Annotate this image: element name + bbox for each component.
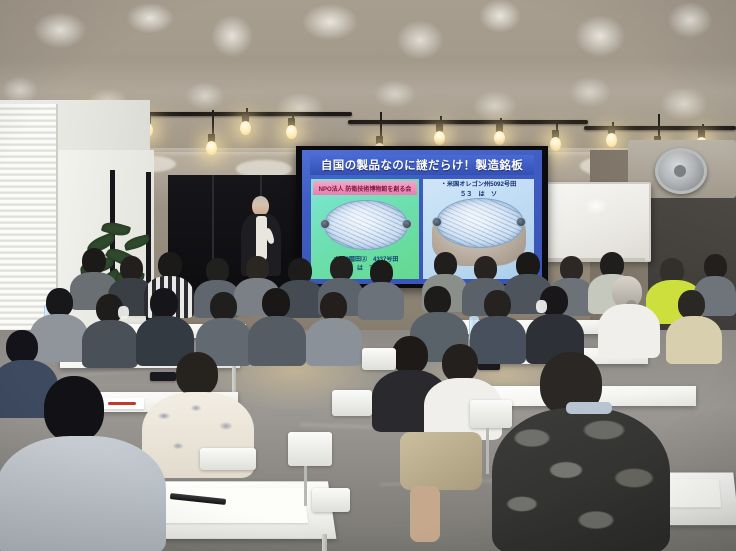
- chair-front-left: [288, 432, 332, 466]
- speaker-shirt: [256, 216, 267, 260]
- photo-scene: 自国の製品なのに謎だらけ！製造銘板 NPO法人 防衛技術博物館を創る会 ・米国オ…: [0, 0, 736, 551]
- ventilation-fan-icon: [655, 148, 707, 194]
- nameplate-left-hole-a: [320, 219, 330, 229]
- nameplate-right-hole-a: [432, 217, 442, 227]
- chair-row2-left: [332, 390, 372, 416]
- slide-left-caption-top: NPO法人 防衛技術博物館を創る会: [313, 181, 417, 195]
- nameplate-left-hole-b: [402, 219, 412, 229]
- chair-mid-left: [200, 448, 256, 470]
- nameplate-right-hole-b: [516, 217, 526, 227]
- pendant-bulb-6: [286, 125, 297, 139]
- camouflage-shirt-body: [492, 408, 670, 551]
- pendant-bulb-5: [240, 121, 251, 135]
- slide-right-caption-line1: ・米国オレゴン州5092号田: [425, 180, 532, 190]
- pendant-bulb-9: [494, 131, 505, 145]
- whiteboard-tray: [545, 258, 645, 262]
- speaker-head: [252, 196, 269, 216]
- smartphone-left: [150, 372, 176, 381]
- chair-row2-right: [470, 400, 512, 428]
- light-track-rail-right: [584, 126, 736, 130]
- light-track-rail-center: [348, 120, 588, 124]
- slide-right-caption: ・米国オレゴン州5092号田 ５３ は ソ: [425, 180, 532, 199]
- chair-row3-left: [362, 348, 396, 370]
- pendant-bulb-8: [434, 131, 445, 145]
- whiteboard: [543, 182, 651, 262]
- pendant-bulb-4: [206, 141, 217, 155]
- pendant-bulb-10: [550, 137, 561, 151]
- oval-nameplate-left: [324, 200, 408, 250]
- slide-title: 自国の製品なのに謎だらけ！製造銘板: [310, 155, 534, 175]
- chair-front-left-b: [312, 488, 350, 512]
- oval-nameplate-right: [436, 198, 524, 248]
- leg: [410, 486, 440, 542]
- pendant-bulb-11: [606, 133, 617, 147]
- shirt-collar: [566, 402, 612, 414]
- gray-tshirt-body: [0, 436, 166, 551]
- red-pen-row1: [108, 402, 136, 405]
